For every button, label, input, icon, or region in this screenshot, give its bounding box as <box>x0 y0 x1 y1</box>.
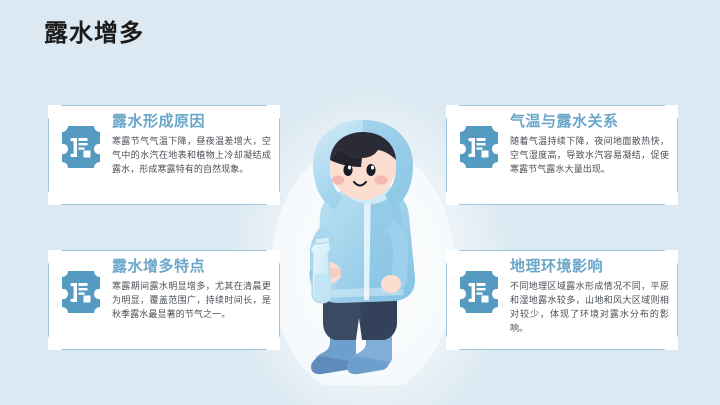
document-icon <box>62 271 100 313</box>
document-icon <box>460 126 498 168</box>
info-card-1[interactable]: 露水形成原因 寒露节气气温下降，昼夜温差增大，空气中的水汽在地表和植物上冷却凝结… <box>48 105 280 205</box>
document-icon <box>460 271 498 313</box>
info-card-2[interactable]: 气温与露水关系 随着气温持续下降，夜间地面散热快，空气湿度高，导致水汽容易凝结，… <box>446 105 678 205</box>
card-content: 地理环境影响 不同地理区域露水形成情况不同，平原和湿地露水较多，山地和风大区域则… <box>446 250 678 350</box>
info-card-3[interactable]: 露水增多特点 寒露期间露水明显增多，尤其在清晨更为明显，覆盖范围广，持续时间长，… <box>48 250 280 350</box>
card-text: 随着气温持续下降，夜间地面散热快，空气湿度高，导致水汽容易凝结，促使寒露节气露水… <box>510 135 669 177</box>
slide-root: 露水增多 <box>0 0 720 405</box>
card-content: 露水增多特点 寒露期间露水明显增多，尤其在清晨更为明显，覆盖范围广，持续时间长，… <box>48 250 280 350</box>
card-heading: 露水增多特点 <box>112 259 272 276</box>
card-heading: 地理环境影响 <box>510 259 670 276</box>
child-in-raincoat-illustration <box>268 120 458 385</box>
card-text: 寒露期间露水明显增多，尤其在清晨更为明显，覆盖范围广，持续时间长，是秋季露水最显… <box>112 280 271 322</box>
card-heading: 气温与露水关系 <box>510 114 670 131</box>
page-title: 露水增多 <box>44 22 144 46</box>
card-content: 露水形成原因 寒露节气气温下降，昼夜温差增大，空气中的水汽在地表和植物上冷却凝结… <box>48 105 280 205</box>
head <box>330 132 396 200</box>
info-card-4[interactable]: 地理环境影响 不同地理区域露水形成情况不同，平原和湿地露水较多，山地和风大区域则… <box>446 250 678 350</box>
card-content: 气温与露水关系 随着气温持续下降，夜间地面散热快，空气湿度高，导致水汽容易凝结，… <box>446 105 678 205</box>
water-bottle <box>310 237 332 303</box>
card-heading: 露水形成原因 <box>112 114 272 131</box>
card-text: 不同地理区域露水形成情况不同，平原和湿地露水较多，山地和风大区域则相对较少，体现… <box>510 280 669 336</box>
card-text: 寒露节气气温下降，昼夜温差增大，空气中的水汽在地表和植物上冷却凝结成露水，形成寒… <box>112 135 271 177</box>
document-icon <box>62 126 100 168</box>
